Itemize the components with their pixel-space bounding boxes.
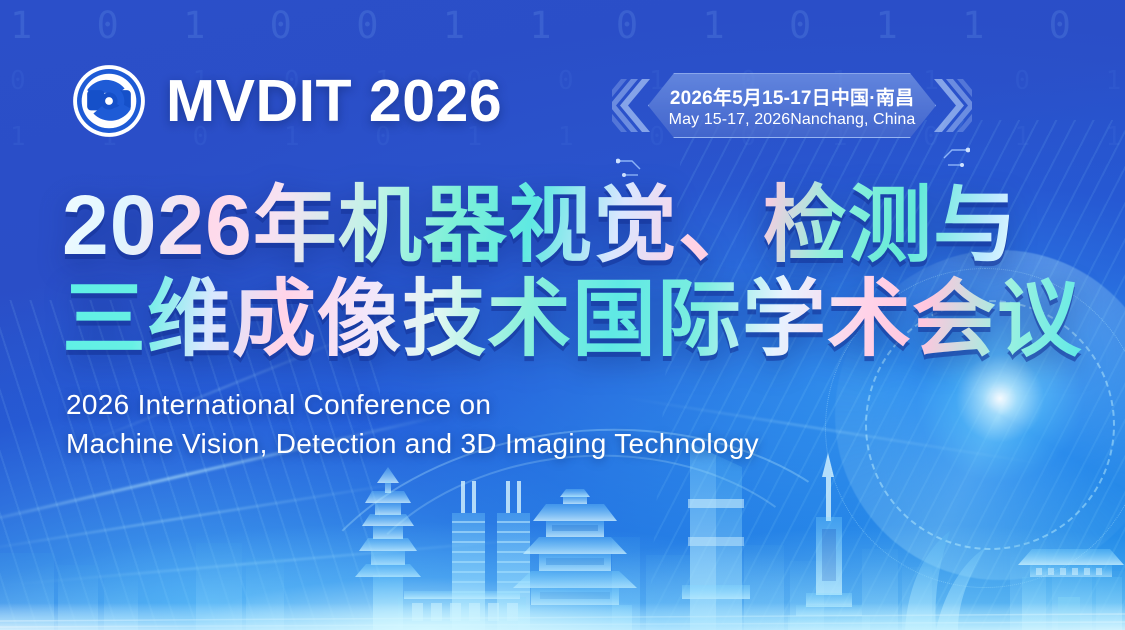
title-chinese-line-2: 三维成像技术国际学术会议 [62, 272, 1072, 367]
badge-date-en: May 15-17, 2026 [669, 111, 791, 129]
date-location-badge: 2026年5月15-17日 中国·南昌 May 15-17, 2026 Nanc… [612, 73, 972, 138]
brand-title: MVDIT 2026 [166, 72, 502, 131]
subtitle-english-line-1: 2026 International Conference on [66, 385, 759, 424]
floor-glow [0, 480, 1125, 630]
pagoda-landmark [355, 467, 421, 630]
light-streak [1, 536, 559, 587]
traditional-gate-hall [1018, 549, 1124, 630]
badge-row-en: May 15-17, 2026 Nanchang, China [669, 111, 916, 129]
colonnade-building [398, 591, 526, 630]
twin-towers-landmark [452, 481, 530, 630]
title-chinese-line-1: 2026年机器视觉、检测与 [62, 178, 1072, 273]
sail-sculpture [905, 531, 986, 630]
badge-date-cn: 2026年5月15-17日 [670, 83, 831, 110]
badge-row-cn: 2026年5月15-17日 中国·南昌 [670, 83, 914, 110]
nanchang-tower-landmark [682, 443, 750, 630]
conference-banner: 1 0 1 0 0 1 1 0 1 0 1 1 0 0 1 0 1 0 1 0 … [0, 0, 1125, 630]
tengwang-pavilion-landmark [513, 489, 637, 630]
subtitle-english-line-2: Machine Vision, Detection and 3D Imaging… [66, 424, 759, 463]
badge-location-cn: 中国·南昌 [831, 83, 914, 110]
august-first-monument-landmark [788, 453, 870, 630]
banner-header: MVDIT 2026 [70, 62, 502, 140]
title-chinese-line-2-text: 三维成像技术国际学术会议 [62, 272, 1082, 366]
circuit-dots-right-icon [926, 145, 970, 171]
badge-body: 2026年5月15-17日 中国·南昌 May 15-17, 2026 Nanc… [648, 73, 936, 138]
badge-location-en: Nanchang, China [790, 111, 915, 129]
circuit-dots-left-icon [616, 157, 656, 179]
chevron-stripes-right-icon [932, 79, 972, 132]
light-streak [0, 478, 427, 553]
arc-decoration-inner [317, 437, 862, 630]
chevron-stripes-left-icon [612, 79, 652, 132]
title-chinese-line-1-text: 2026年机器视觉、检测与 [62, 178, 1018, 272]
subtitle-english: 2026 International Conference on Machine… [66, 385, 759, 463]
camera-lens-logo-icon [70, 62, 148, 140]
